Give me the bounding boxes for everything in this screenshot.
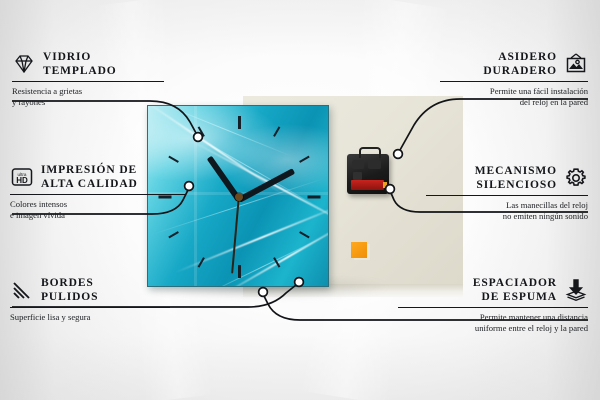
clock-mechanism: [347, 154, 389, 194]
feature-divider: [440, 81, 588, 82]
feature-impresion-alta-calidad: ultra HD IMPRESIÓN DE ALTA CALIDAD Color…: [10, 163, 185, 221]
clock-tick-12: [238, 116, 241, 129]
clock-center-hub: [235, 193, 243, 201]
feature-desc-line2: no emiten ningún sonido: [426, 211, 588, 222]
feature-divider: [398, 307, 588, 308]
feature-divider: [10, 307, 170, 308]
gear-icon: [564, 166, 588, 190]
mechanism-detail: [352, 160, 364, 169]
feature-vidrio-templado: VIDRIO TEMPLADO Resistencia a grietas y …: [12, 50, 164, 108]
feature-title: MECANISMO SILENCIOSO: [475, 164, 557, 192]
feature-desc-line1: Permite una fácil instalación: [440, 86, 588, 97]
feature-desc-line2: y rayones: [12, 97, 164, 108]
feature-title: IMPRESIÓN DE ALTA CALIDAD: [41, 163, 138, 191]
feature-title: ESPACIADOR DE ESPUMA: [473, 276, 557, 304]
glass-panel-seam-v: [194, 106, 197, 287]
framed-picture-icon: [564, 52, 588, 76]
foam-spacer: [351, 242, 367, 258]
feature-header: BORDES PULIDOS: [10, 276, 170, 304]
feature-desc-line1: Permite mantener una distancia: [398, 312, 588, 323]
clock-tick-6: [238, 265, 241, 278]
feature-espaciador-de-espuma: ESPACIADOR DE ESPUMA Permite mantener un…: [398, 276, 588, 334]
feature-title: BORDES PULIDOS: [41, 276, 98, 304]
feature-mecanismo-silencioso: MECANISMO SILENCIOSO Las manecillas del …: [426, 164, 588, 222]
diagonal-lines-icon: [10, 278, 34, 302]
battery: [351, 180, 384, 190]
feature-title: ASIDERO DURADERO: [483, 50, 557, 78]
feature-desc-line2: uniforme entre el reloj y la pared: [398, 323, 588, 334]
down-arrow-pad-icon: [564, 278, 588, 302]
feature-title: VIDRIO TEMPLADO: [43, 50, 117, 78]
feature-desc-line1: Las manecillas del reloj: [426, 200, 588, 211]
mechanism-detail: [368, 160, 381, 169]
feature-asidero-duradero: ASIDERO DURADERO Permite una fácil insta…: [440, 50, 588, 108]
feature-divider: [426, 195, 588, 196]
feature-header: ESPACIADOR DE ESPUMA: [398, 276, 588, 304]
feature-bordes-pulidos: BORDES PULIDOS Superficie lisa y segura: [10, 276, 170, 323]
feature-desc-line1: Resistencia a grietas: [12, 86, 164, 97]
infographic-stage: VIDRIO TEMPLADO Resistencia a grietas y …: [0, 0, 600, 400]
feature-header: ASIDERO DURADERO: [440, 50, 588, 78]
feature-divider: [10, 194, 185, 195]
svg-text:HD: HD: [16, 176, 28, 185]
feature-header: VIDRIO TEMPLADO: [12, 50, 164, 78]
mechanism-detail: [353, 172, 362, 180]
feature-header: MECANISMO SILENCIOSO: [426, 164, 588, 192]
feature-desc-line2: del reloj en la pared: [440, 97, 588, 108]
clock-tick-3: [308, 196, 321, 199]
feature-desc-line2: e imagen vívida: [10, 210, 185, 221]
ultra-hd-icon: ultra HD: [10, 165, 34, 189]
feature-header: ultra HD IMPRESIÓN DE ALTA CALIDAD: [10, 163, 185, 191]
feature-desc-line1: Superficie lisa y segura: [10, 312, 170, 323]
diamond-icon: [12, 52, 36, 76]
feature-divider: [12, 81, 164, 82]
feature-desc-line1: Colores intensos: [10, 199, 185, 210]
